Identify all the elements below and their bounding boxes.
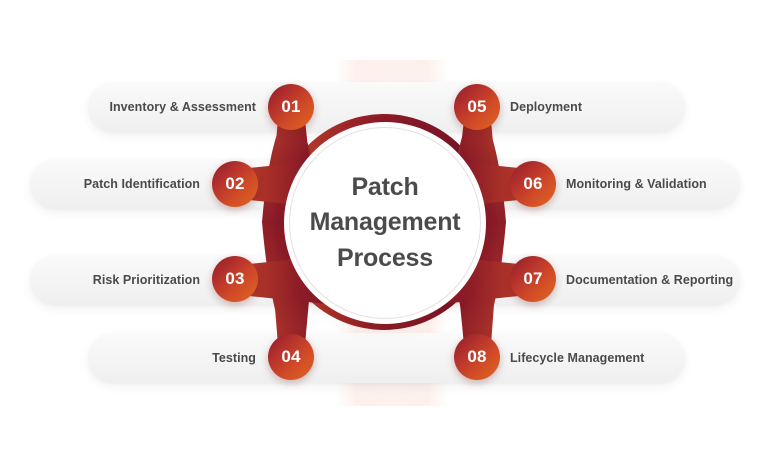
step-label-03: Risk Prioritization: [93, 274, 200, 287]
step-badge-05[interactable]: 05: [454, 84, 500, 130]
step-label-05: Deployment: [510, 101, 582, 114]
step-badge-06[interactable]: 06: [510, 161, 556, 207]
patch-management-process-infographic: Patch Management Process 01 02 03 04 05 …: [0, 0, 768, 466]
step-badge-07[interactable]: 07: [510, 256, 556, 302]
step-label-06: Monitoring & Validation: [566, 178, 707, 191]
step-badge-02[interactable]: 02: [212, 161, 258, 207]
step-label-01: Inventory & Assessment: [109, 101, 256, 114]
step-badge-01[interactable]: 01: [268, 84, 314, 130]
step-label-04: Testing: [212, 352, 256, 365]
center-title-line-2: Management: [310, 205, 461, 241]
step-label-07: Documentation & Reporting: [566, 274, 733, 287]
step-badge-03[interactable]: 03: [212, 256, 258, 302]
step-label-08: Lifecycle Management: [510, 352, 644, 365]
step-label-02: Patch Identification: [84, 178, 200, 191]
step-badge-04[interactable]: 04: [268, 334, 314, 380]
step-badge-08[interactable]: 08: [454, 334, 500, 380]
center-hub-title: Patch Management Process: [289, 127, 481, 319]
center-title-line-1: Patch: [351, 170, 418, 206]
center-title-line-3: Process: [337, 241, 433, 277]
